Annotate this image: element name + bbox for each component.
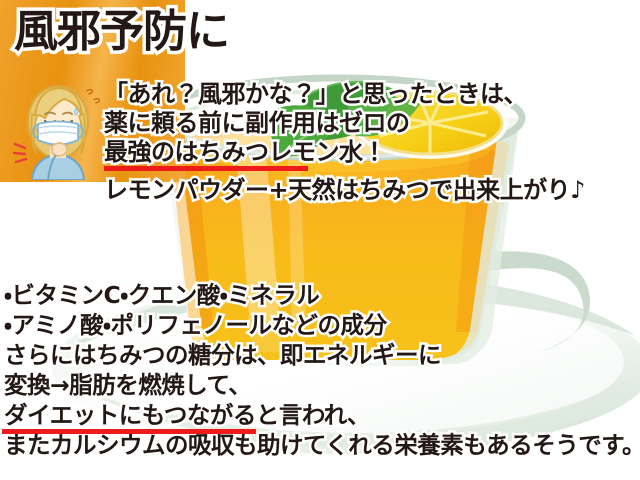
sick-woman-illustration: っ っ [12, 72, 108, 180]
svg-text:っ: っ [92, 96, 101, 106]
lower-copy-line-3: さらにはちみつの糖分は、即エネルギーに [4, 341, 640, 370]
lower-copy-red-underline [2, 429, 256, 434]
upper-copy-line-3: 最強のはちみつレモン水！ [104, 138, 634, 166]
page-title: 風邪予防に [14, 10, 229, 54]
upper-copy-line-4: レモンパウダー+天然はちみつで出来上がり♪ [104, 176, 634, 204]
lower-copy-line-1: ・ビタミンC・クエン酸・ミネラル [4, 281, 640, 310]
lower-copy-block: ・ビタミンC・クエン酸・ミネラル ・アミノ酸・ポリフェノールなどの成分 さらには… [4, 281, 640, 461]
poster-canvas: っ っ [0, 0, 640, 480]
upper-copy-line-2: 薬に頼る前に副作用はゼロの [104, 109, 634, 137]
face-mask-icon [33, 122, 83, 145]
lower-copy-line-5: ダイエットにもつながると言われ、 [4, 401, 640, 430]
lower-copy-line-6: またカルシウムの吸収も助けてくれる栄養素もあるそうです。 [4, 431, 640, 460]
lower-copy-line-2: ・アミノ酸・ポリフェノールなどの成分 [4, 311, 640, 340]
lower-copy-line-4: 変換→脂肪を燃焼して、 [4, 371, 640, 400]
upper-copy-red-underline [104, 166, 308, 171]
upper-copy-line-1: 「あれ？風邪かな？」と思ったときは、 [104, 80, 634, 108]
cough-marks-icon: っ っ [85, 87, 101, 106]
upper-copy-block: 「あれ？風邪かな？」と思ったときは、 薬に頼る前に副作用はゼロの 最強のはちみつ… [104, 80, 634, 205]
motion-lines-icon [14, 144, 26, 162]
